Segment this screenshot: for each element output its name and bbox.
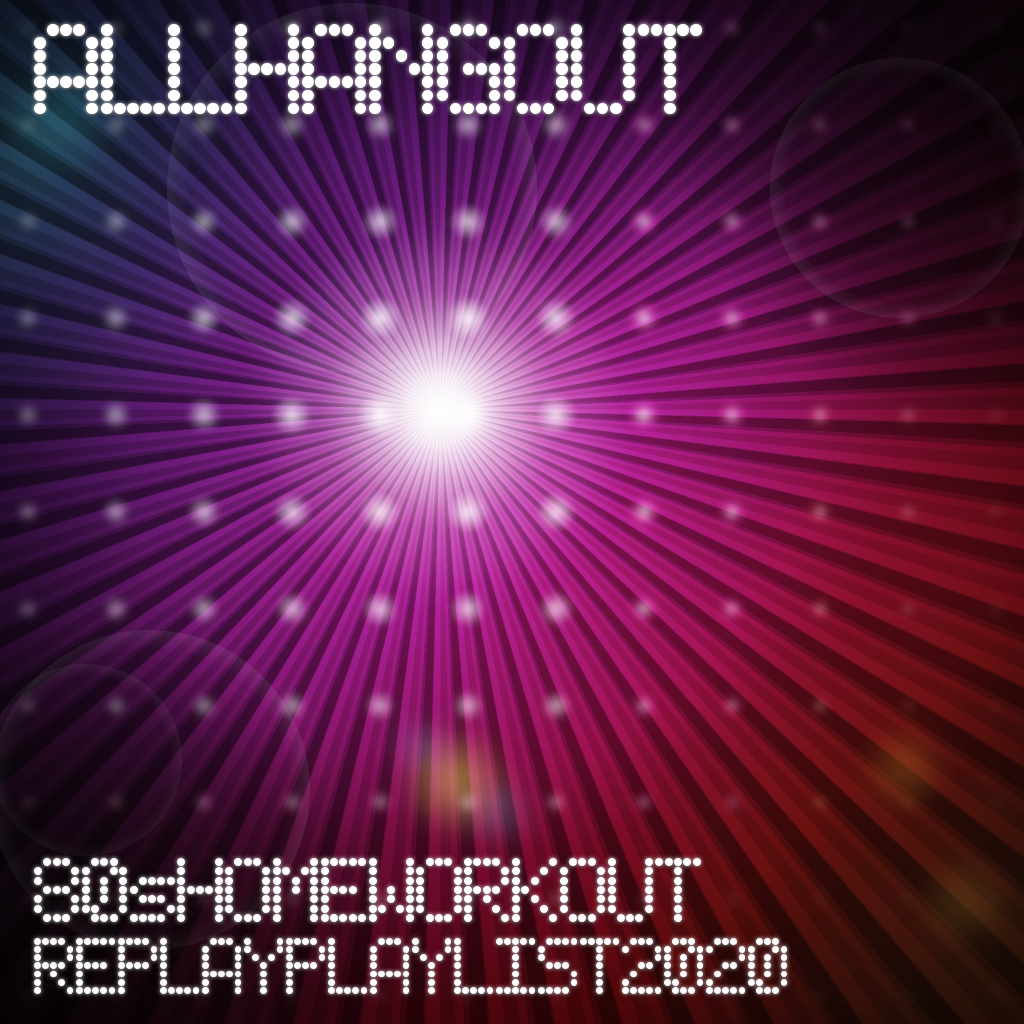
led-char xyxy=(560,858,607,923)
led-char xyxy=(273,858,320,923)
led-char xyxy=(571,24,637,116)
led-char xyxy=(580,938,621,995)
led-char xyxy=(34,938,75,995)
led-char xyxy=(76,938,117,995)
led-char xyxy=(118,938,159,995)
led-char xyxy=(235,24,301,116)
led-char xyxy=(302,24,368,116)
led-char xyxy=(369,858,416,923)
led-char xyxy=(82,858,129,923)
led-char xyxy=(496,938,537,995)
led-char xyxy=(638,24,704,116)
cover-subtitle-line-2 xyxy=(34,938,790,995)
led-char xyxy=(168,24,234,116)
led-char xyxy=(655,858,702,923)
led-char xyxy=(369,24,435,116)
led-char xyxy=(225,858,272,923)
led-char xyxy=(416,858,463,923)
led-char xyxy=(706,938,747,995)
led-char xyxy=(328,938,369,995)
led-char xyxy=(34,24,100,116)
cover-subtitle-line-1 xyxy=(34,858,703,923)
led-char xyxy=(454,938,495,995)
led-char xyxy=(664,938,705,995)
led-char xyxy=(412,938,453,995)
led-char xyxy=(538,938,579,995)
led-char xyxy=(101,24,167,116)
led-char xyxy=(244,938,285,995)
cover-text-layer xyxy=(0,0,1024,1024)
led-char xyxy=(504,24,570,116)
album-cover-artwork xyxy=(0,0,1024,1024)
cover-title xyxy=(34,24,705,116)
led-char xyxy=(130,858,177,923)
led-char xyxy=(321,858,368,923)
led-char xyxy=(622,938,663,995)
led-char xyxy=(464,858,511,923)
led-char xyxy=(437,24,503,116)
led-char xyxy=(512,858,559,923)
led-char xyxy=(202,938,243,995)
led-char xyxy=(34,858,81,923)
led-char xyxy=(608,858,655,923)
led-char xyxy=(286,938,327,995)
led-char xyxy=(748,938,789,995)
led-char xyxy=(177,858,224,923)
led-char xyxy=(160,938,201,995)
led-char xyxy=(370,938,411,995)
